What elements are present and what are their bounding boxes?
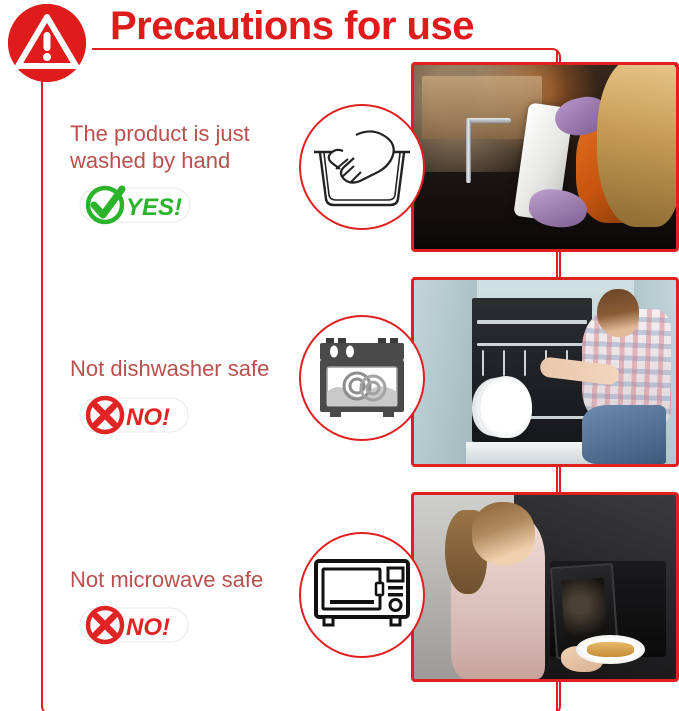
status-badge-yes-text: YES! — [126, 194, 182, 221]
status-badge-no-text: NO! — [126, 404, 170, 431]
microwave-icon — [299, 532, 425, 658]
precaution-row-dishwasher: Not dishwasher safe NO! — [0, 277, 679, 477]
status-badge-no: NO! — [74, 604, 194, 646]
status-badge-no: NO! — [74, 394, 194, 436]
hand-wash-icon — [299, 104, 425, 230]
photo-microwave-plate — [411, 492, 679, 682]
status-badge-no-text: NO! — [126, 614, 170, 641]
dishwasher-icon — [299, 315, 425, 441]
precaution-row-hand-wash: The product is just washed by hand YES! — [0, 62, 679, 262]
precaution-row-microwave: Not microwave safe NO! — [0, 492, 679, 692]
precaution-label: Not dishwasher safe — [70, 355, 269, 382]
page-title: Precautions for use — [110, 2, 474, 50]
photo-hand-washing-dish — [411, 62, 679, 252]
warning-triangle-icon — [8, 4, 86, 82]
precaution-label: Not microwave safe — [70, 566, 263, 593]
infographic-root: Precautions for use The product is just … — [0, 0, 679, 711]
status-badge-yes: YES! — [74, 184, 194, 226]
photo-loading-dishwasher — [411, 277, 679, 467]
precaution-label: The product is just washed by hand — [70, 120, 250, 174]
